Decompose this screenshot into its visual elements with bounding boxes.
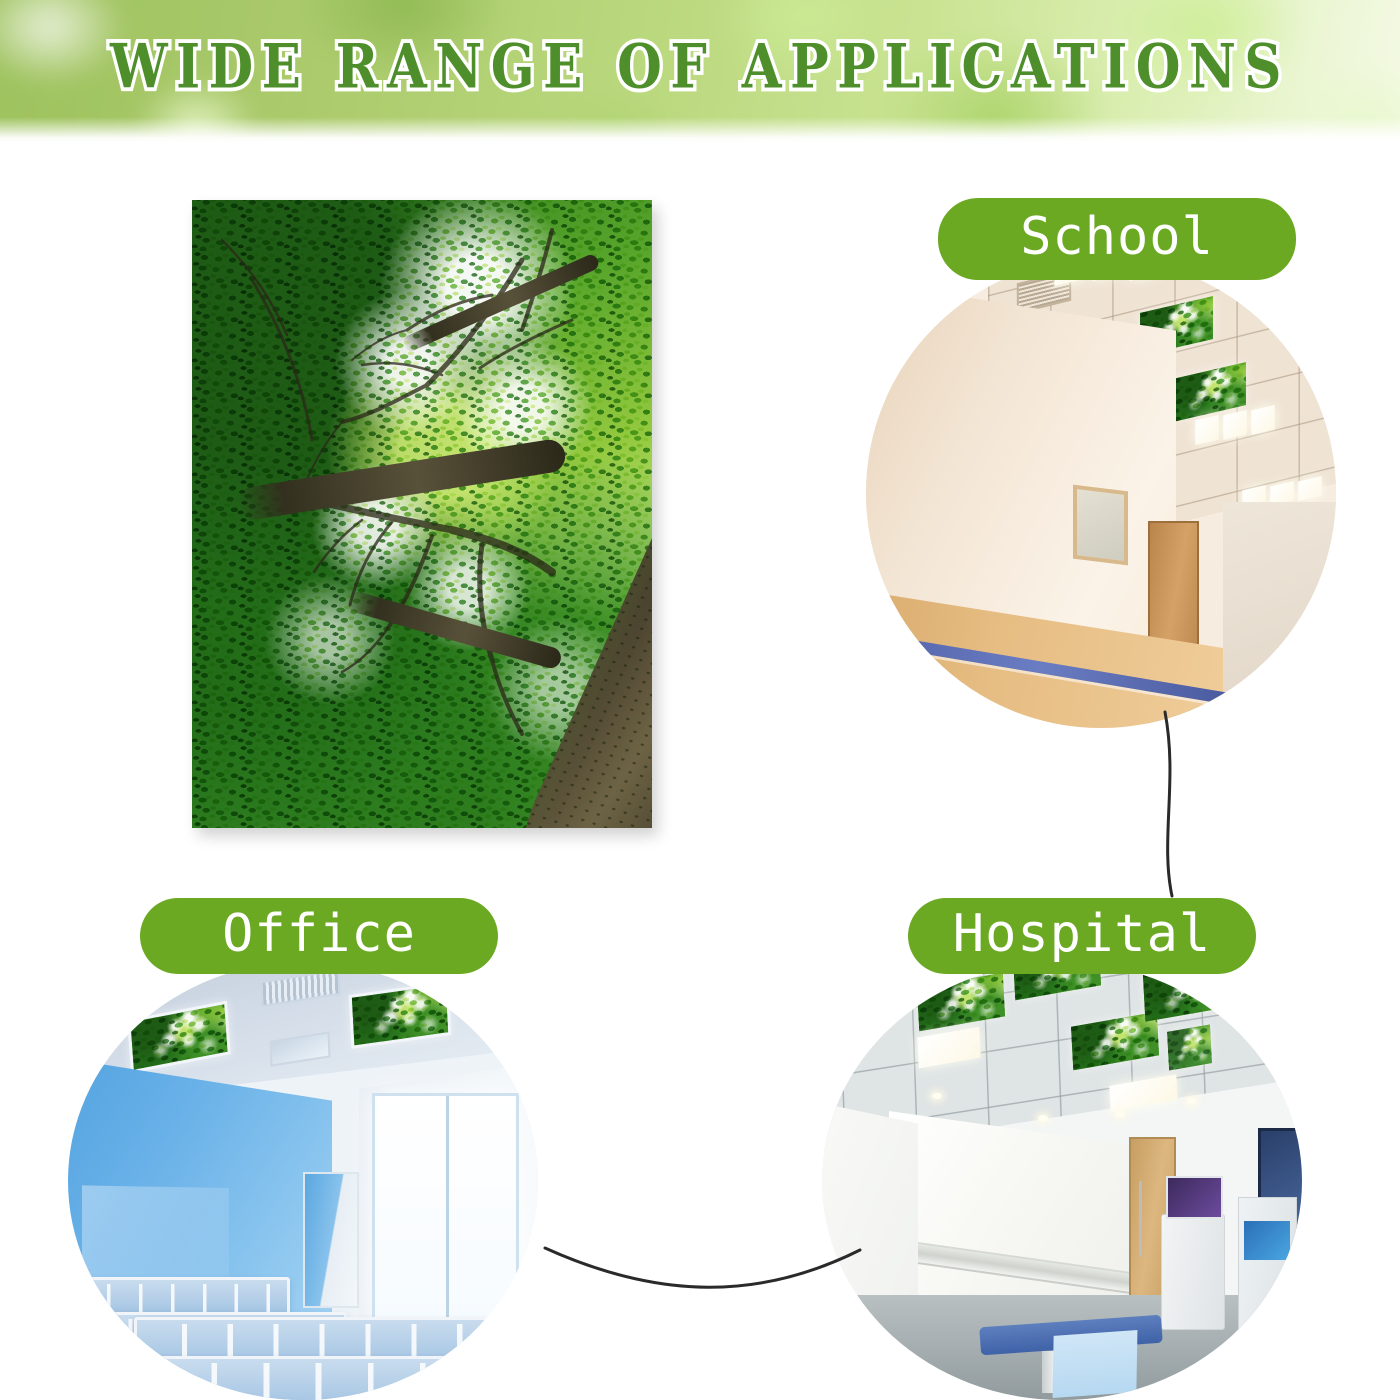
banner-fade	[0, 117, 1400, 143]
office-scene-image	[68, 962, 538, 1400]
exam-table	[980, 1308, 1162, 1391]
connector-school-to-hospital	[1165, 712, 1172, 896]
connector-office-to-hospital	[545, 1248, 860, 1287]
school-corridor-artwork	[866, 258, 1336, 728]
interior-window	[1073, 485, 1128, 566]
far-room	[1223, 502, 1336, 728]
header-banner: WIDE RANGE OF APPLICATIONS	[0, 0, 1400, 143]
office-waiting-room-artwork	[68, 962, 538, 1400]
seat-row	[106, 1356, 507, 1400]
exam-table-sheet	[1053, 1330, 1138, 1398]
label-school: School	[938, 198, 1296, 280]
medical-machine	[1238, 1197, 1298, 1348]
label-hospital-text: Hospital	[953, 908, 1211, 960]
label-hospital: Hospital	[908, 898, 1256, 974]
office-window	[372, 1093, 519, 1327]
tree-ceiling-panel	[1167, 1024, 1212, 1071]
downlight-icon	[1115, 1111, 1125, 1117]
machine-screen	[1244, 1221, 1290, 1260]
hospital-exam-room-artwork	[822, 962, 1302, 1400]
medical-cart	[1161, 1214, 1225, 1330]
hero-tree-panel-image	[192, 200, 652, 828]
ceiling-light-panel	[1195, 415, 1218, 444]
office-cabinet	[303, 1172, 359, 1307]
tree-canopy-artwork	[192, 200, 652, 828]
label-school-text: School	[1020, 211, 1214, 263]
school-scene-image	[866, 258, 1336, 728]
hospital-scene-image	[822, 962, 1302, 1400]
downlight-icon	[1187, 1098, 1197, 1104]
page-title: WIDE RANGE OF APPLICATIONS	[35, 36, 1365, 96]
ceiling-light-panel	[1299, 476, 1322, 501]
label-office: Office	[140, 898, 498, 974]
downlight-icon	[1038, 1115, 1048, 1121]
cart-monitor-screen	[1166, 1176, 1224, 1219]
label-office-text: Office	[222, 908, 416, 960]
